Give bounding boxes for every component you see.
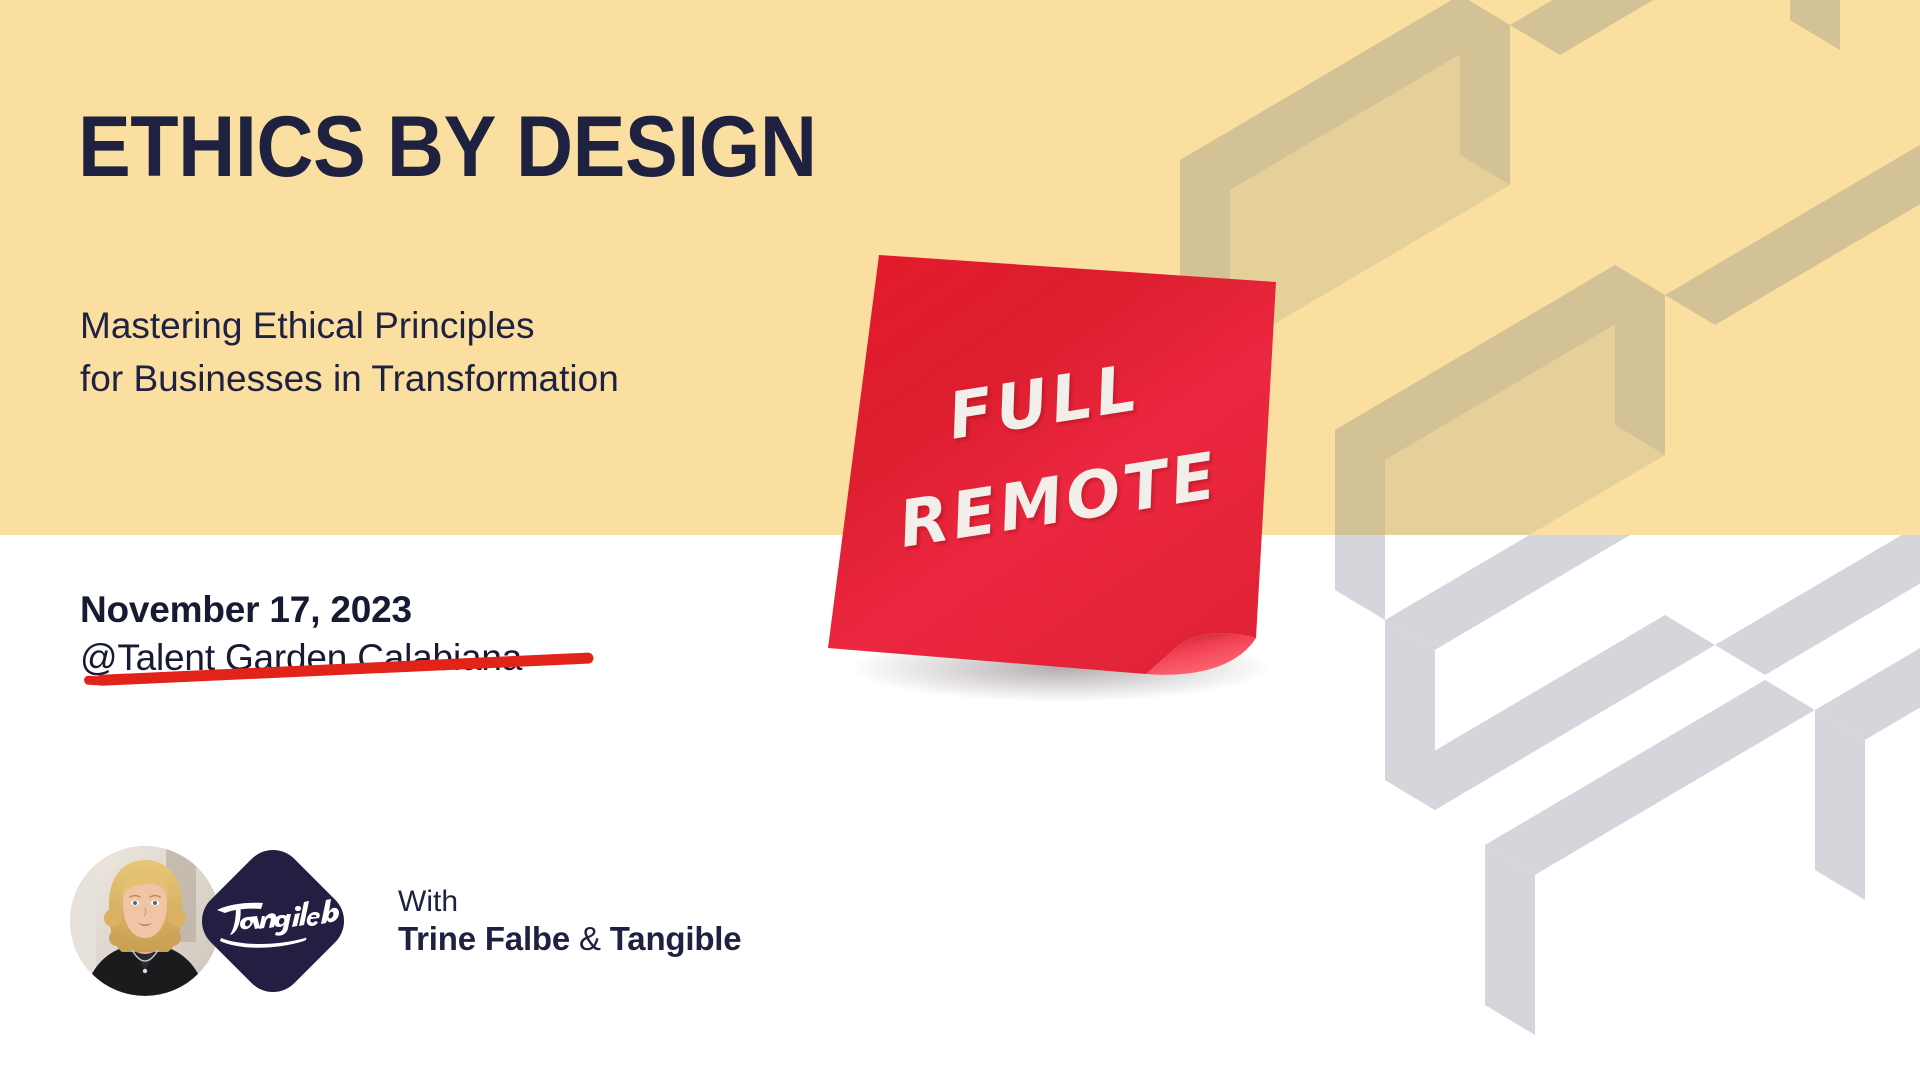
subtitle-line-1: Mastering Ethical Principles: [80, 300, 619, 353]
logo-wordmark: [192, 840, 354, 1002]
event-venue-wrapper: @Talent Garden Calabiana: [80, 636, 522, 680]
full-remote-sticky-note: FULL REMOTE: [806, 238, 1326, 708]
with-label: With: [398, 884, 741, 919]
event-details: November 17, 2023 @Talent Garden Calabia…: [80, 588, 522, 681]
speaker-credit: With Trine Falbe & Tangible: [398, 884, 741, 959]
speaker-names: Trine Falbe & Tangible: [398, 919, 741, 959]
event-date: November 17, 2023: [80, 588, 522, 632]
event-banner: ETHICS BY DESIGN Mastering Ethical Princ…: [0, 0, 1920, 1080]
subtitle-line-2: for Businesses in Transformation: [80, 353, 619, 406]
page-title: ETHICS BY DESIGN: [78, 104, 817, 190]
speaker-name-secondary: Tangible: [610, 920, 742, 957]
speaker-name-primary: Trine Falbe: [398, 920, 570, 957]
speaker-ampersand: &: [570, 920, 610, 957]
subtitle: Mastering Ethical Principles for Busines…: [80, 300, 619, 405]
speaker-row: With Trine Falbe & Tangible: [70, 840, 741, 1002]
tangible-logo: [192, 840, 354, 1002]
